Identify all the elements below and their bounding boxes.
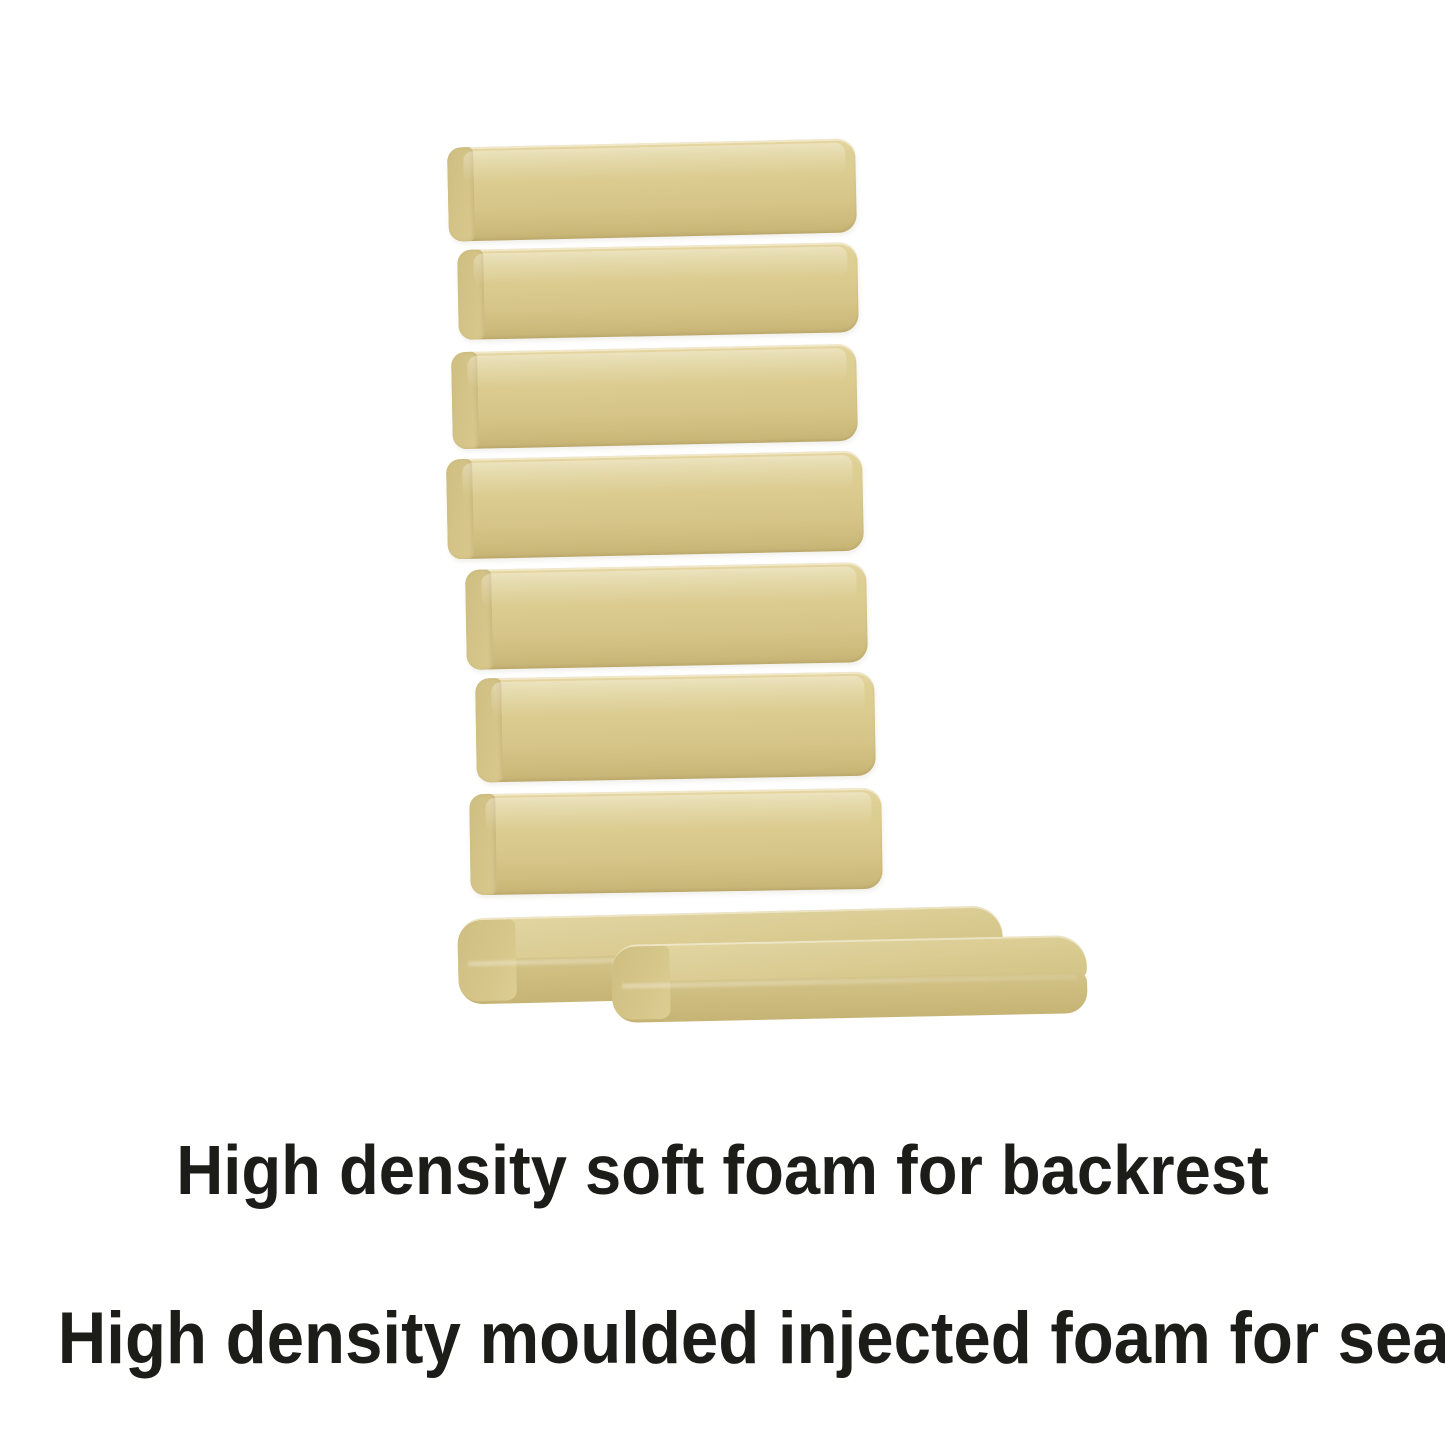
- caption-block: High density soft foam for backrest High…: [0, 1105, 1445, 1377]
- slat-end-cap: [457, 249, 485, 339]
- seat-cushion-lower: [611, 935, 1088, 1023]
- slat-end-cap: [447, 147, 475, 242]
- cushion-left-face: [457, 919, 517, 1001]
- slat-highlight: [467, 348, 847, 389]
- backrest-slat-5: [465, 562, 868, 670]
- slat-end-cap: [469, 794, 497, 895]
- slat-highlight: [463, 143, 846, 184]
- backrest-slat-7: [469, 788, 883, 895]
- backrest-slat-2: [457, 242, 859, 340]
- slat-highlight: [462, 455, 853, 497]
- slat-highlight: [473, 246, 848, 284]
- slat-highlight: [485, 792, 871, 832]
- caption-seat: High density moulded injected foam for s…: [58, 1302, 1387, 1376]
- backrest-slat-6: [475, 672, 876, 783]
- caption-backrest: High density soft foam for backrest: [51, 1135, 1395, 1206]
- cushion-front-face: [612, 972, 1088, 1022]
- slat-end-cap: [446, 459, 474, 560]
- foam-product-illustration: [0, 0, 1445, 1080]
- product-feature-page: High density soft foam for backrest High…: [0, 0, 1445, 1445]
- backrest-slat-4: [446, 451, 864, 560]
- cushion-left-face: [611, 945, 671, 1020]
- slat-end-cap: [451, 352, 479, 450]
- slat-end-cap: [465, 569, 493, 669]
- backrest-slat-3: [451, 344, 858, 449]
- slat-highlight: [491, 676, 865, 718]
- slat-highlight: [481, 566, 857, 607]
- slat-end-cap: [475, 678, 503, 782]
- backrest-slat-1: [447, 138, 857, 241]
